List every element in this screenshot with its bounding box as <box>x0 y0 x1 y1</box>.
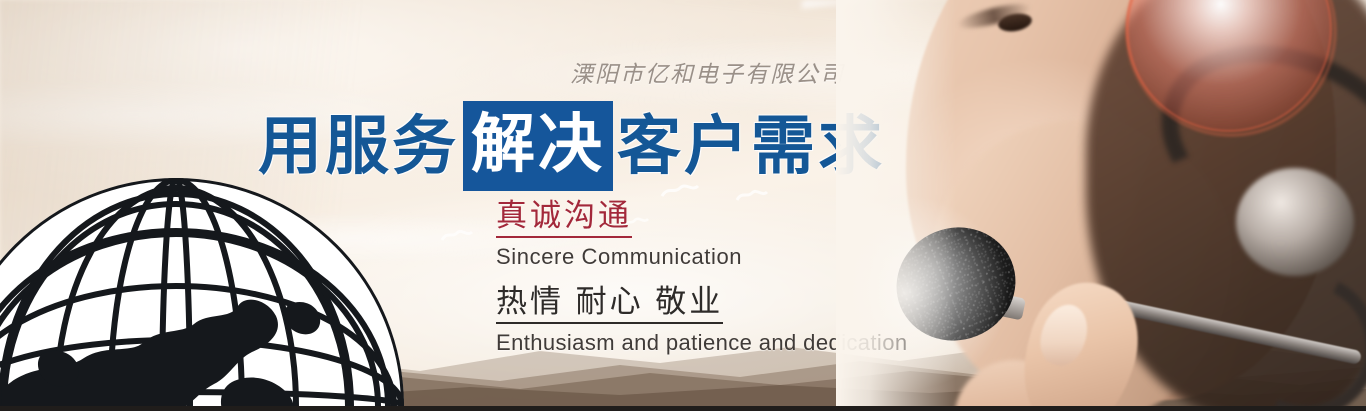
photo-left-fade <box>836 0 956 406</box>
globe-icon <box>0 176 406 406</box>
headset-earpiece-icon <box>1236 168 1354 276</box>
headline-highlight: 解决 <box>463 101 613 191</box>
slogan-2-cn: 热情 耐心 敬业 <box>496 284 723 324</box>
headline-before: 用服务 <box>258 107 459 185</box>
headline: 用服务 解决 客户需求 <box>258 101 885 191</box>
slogan-1-cn: 真诚沟通 <box>496 198 632 238</box>
promo-banner: 溧阳市亿和电子有限公司 用服务 解决 客户需求 真诚沟通 Sincere Com… <box>0 0 1366 411</box>
headset-operator-photo <box>836 0 1366 406</box>
company-name: 溧阳市亿和电子有限公司 <box>570 55 845 89</box>
bird-icon <box>440 228 474 246</box>
bottom-bar <box>0 406 1366 411</box>
